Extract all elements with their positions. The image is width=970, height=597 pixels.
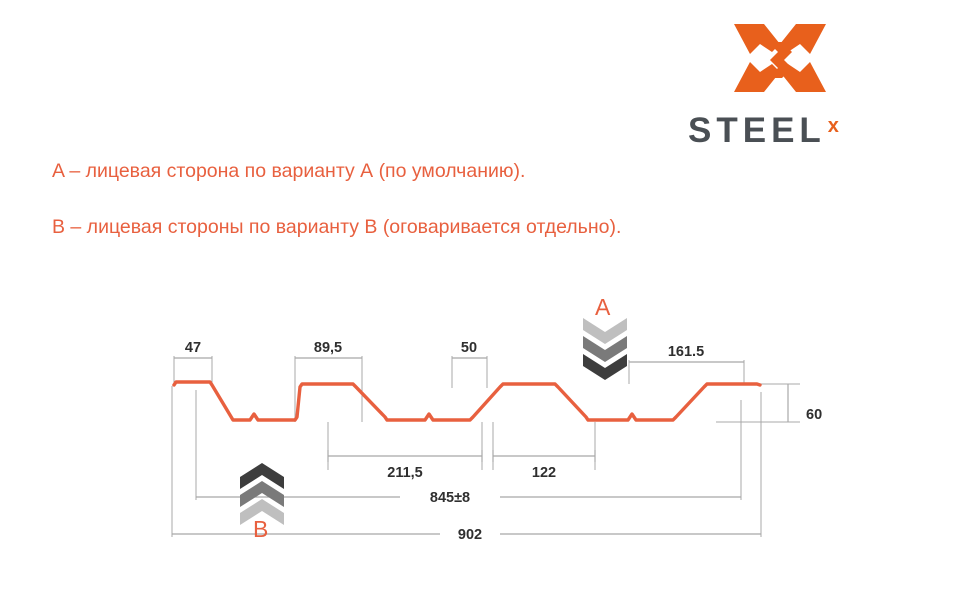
dim-label-902: 902 (458, 527, 482, 543)
dim-label-161-5: 161.5 (668, 344, 704, 360)
dim-label-845: 845±8 (430, 490, 470, 506)
drawing-page: STEEL x A – лицевая сторона по варианту … (0, 0, 970, 597)
marker-b-label: B (253, 516, 268, 543)
dim-label-211-5: 211,5 (387, 465, 423, 481)
dim-label-50: 50 (461, 340, 477, 356)
dim-label-60: 60 (806, 407, 822, 423)
marker-a-chevrons (583, 318, 627, 380)
dim-label-89-5: 89,5 (314, 340, 342, 356)
steel-profile-outline (174, 382, 760, 420)
profile-technical-drawing: 47 89,5 50 161.5 211,5 122 845±8 902 60 (0, 0, 970, 597)
marker-a-label: A (595, 294, 610, 321)
dim-label-47: 47 (185, 340, 201, 356)
dim-label-122: 122 (532, 465, 556, 481)
